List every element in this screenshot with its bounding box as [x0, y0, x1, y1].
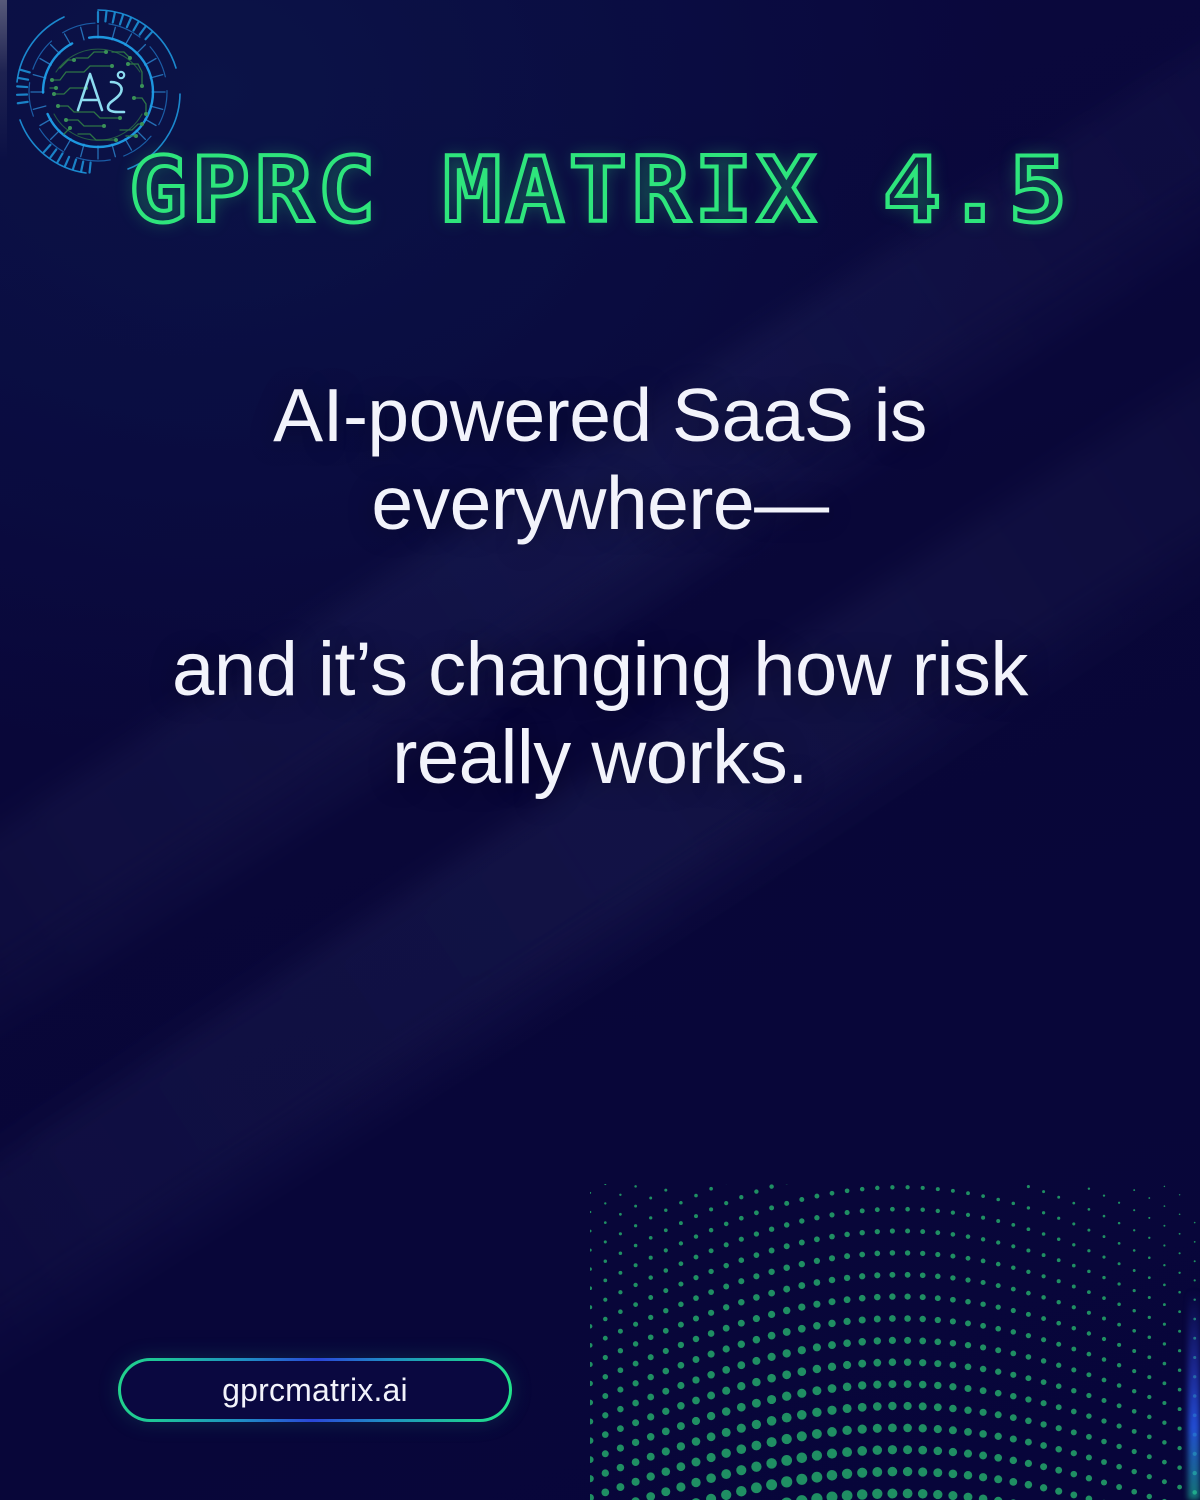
halftone-dot-wave	[590, 1184, 1200, 1500]
headline-line-2: everywhere—	[130, 460, 1070, 548]
website-url-pill[interactable]: gprcmatrix.ai	[118, 1358, 512, 1422]
right-edge-accent-glow	[1188, 1290, 1200, 1500]
headline-paragraph-2: and it’s changing how risk really works.	[130, 626, 1070, 804]
headline-line-1: AI-powered SaaS is	[273, 373, 927, 457]
left-edge-highlight	[0, 0, 7, 160]
page-title: GPRC MATRIX 4.5	[0, 146, 1200, 236]
headline-block: AI-powered SaaS is everywhere— and it’s …	[130, 372, 1070, 803]
social-post-canvas: GPRC MATRIX 4.5 AI-powered SaaS is every…	[0, 0, 1200, 1500]
headline-spacer	[130, 548, 1070, 626]
website-url-pill-inner: gprcmatrix.ai	[121, 1361, 509, 1419]
website-url-label: gprcmatrix.ai	[222, 1372, 408, 1409]
